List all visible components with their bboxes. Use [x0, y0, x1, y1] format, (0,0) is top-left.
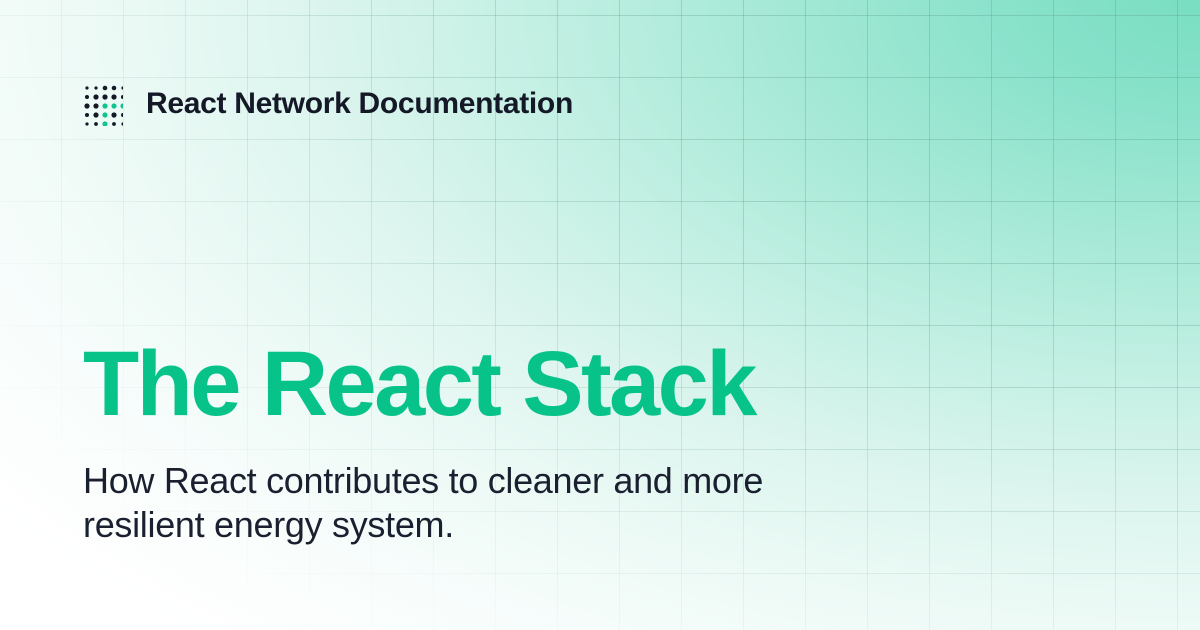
brand-header: React Network Documentation [83, 82, 573, 126]
dot-matrix-logo-icon [83, 82, 123, 126]
page-subtitle: How React contributes to cleaner and mor… [83, 459, 843, 547]
hero-section: The React Stack How React contributes to… [83, 336, 923, 547]
brand-title: React Network Documentation [146, 89, 573, 119]
page-title: The React Stack [83, 336, 923, 433]
og-card: React Network Documentation The React St… [0, 0, 1200, 630]
